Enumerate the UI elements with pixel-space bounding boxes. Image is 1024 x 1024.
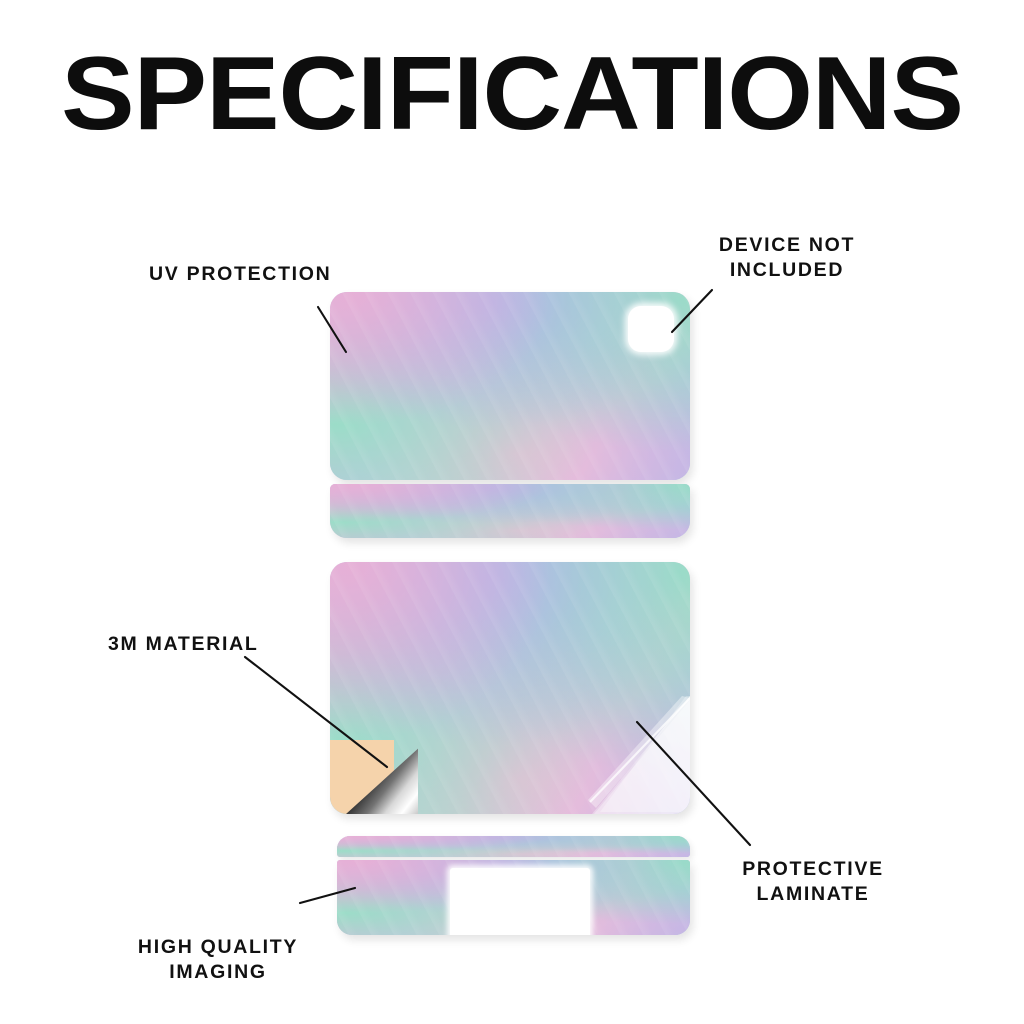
callout-label-uv-protection: UV PROTECTION xyxy=(149,262,331,287)
specifications-infographic: SPECIFICATIONS xyxy=(0,0,1024,1024)
skin-panel-keyboard-cover xyxy=(330,562,690,814)
trackpad-cutout xyxy=(450,868,590,935)
callout-label-device-not-included: DEVICE NOT INCLUDED xyxy=(713,233,861,284)
camera-cutout xyxy=(628,306,674,352)
page-title: SPECIFICATIONS xyxy=(0,42,1024,146)
iridescent-gradient-fill xyxy=(330,484,690,538)
callout-label-3m-material: 3M MATERIAL xyxy=(108,632,259,657)
skin-panel-tablet-hinge xyxy=(330,484,690,538)
peeled-laminate-flap-icon xyxy=(586,696,690,814)
skin-panel-tablet-back xyxy=(330,292,690,480)
callout-label-protective-laminate: PROTECTIVE LAMINATE xyxy=(738,857,888,908)
skin-panel-bottom-body xyxy=(337,860,690,935)
skin-panel-bottom-strip xyxy=(337,836,690,857)
iridescent-gradient-fill xyxy=(337,836,690,857)
callout-label-high-quality-imaging: HIGH QUALITY IMAGING xyxy=(123,935,313,986)
